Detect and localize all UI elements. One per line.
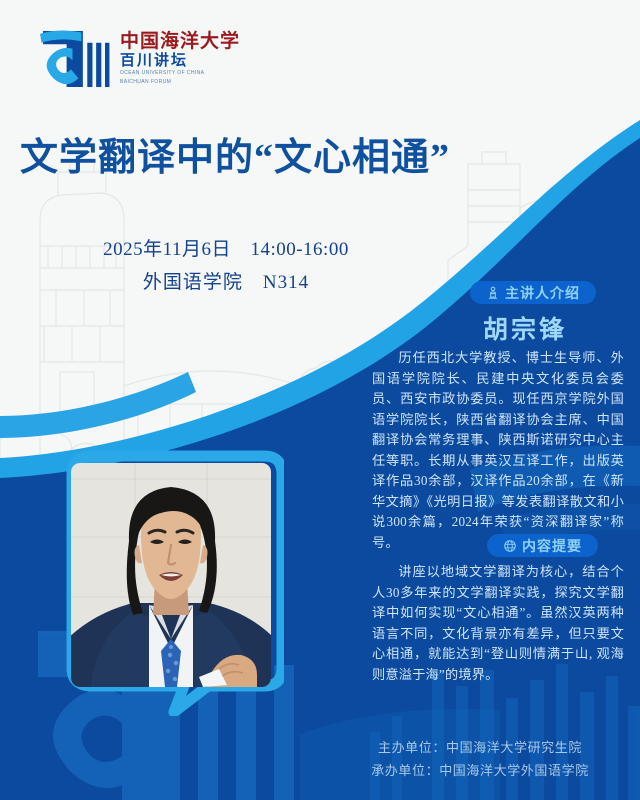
content-summary: 讲座以地域文学翻译为核心，结合个人30多年来的文学翻译实践，探究文学翻译中如何实… (372, 562, 624, 685)
poster-canvas: 中国海洋大学 百川讲坛 OCEAN UNIVERSITY OF CHINA BA… (0, 0, 640, 800)
speaker-photo-illustration (71, 463, 271, 687)
event-datetime: 2025年11月6日 14:00-16:00 (16, 236, 436, 265)
summary-section-badge: 内容提要 (487, 534, 598, 557)
logo-university-cn: 中国海洋大学 (120, 32, 240, 52)
footer-host: 主办单位：中国海洋大学研究生院 (330, 736, 630, 759)
brand-logo: 中国海洋大学 百川讲坛 OCEAN UNIVERSITY OF CHINA BA… (38, 28, 240, 90)
person-lectern-icon (486, 286, 500, 300)
event-venue: 外国语学院 N314 (16, 269, 436, 298)
baichuan-forum-logo-icon (38, 28, 110, 90)
speaker-section-badge: 主讲人介绍 (470, 281, 596, 304)
globe-icon (503, 539, 517, 553)
footer-organizer: 承办单位：中国海洋大学外国语学院 (330, 759, 630, 782)
speaker-bio: 历任西北大学教授、博士生导师、外国语学院院长、民建中央文化委员会委员、西安市政协… (372, 348, 624, 553)
event-meta: 2025年11月6日 14:00-16:00 外国语学院 N314 (16, 236, 436, 297)
logo-forum-cn: 百川讲坛 (120, 53, 240, 70)
poster-title: 文学翻译中的“文心相通” (0, 126, 470, 181)
footer-credits: 主办单位：中国海洋大学研究生院 承办单位：中国海洋大学外国语学院 (330, 736, 630, 782)
logo-university-en: OCEAN UNIVERSITY OF CHINA (120, 70, 240, 78)
speaker-portrait-frame (58, 450, 284, 716)
summary-badge-label: 内容提要 (522, 536, 582, 556)
speaker-name: 胡宗锋 (420, 310, 630, 346)
logo-forum-en: BAICHUAN FORUM (120, 79, 240, 87)
speaker-photo (71, 463, 271, 687)
speaker-badge-label: 主讲人介绍 (505, 283, 580, 303)
